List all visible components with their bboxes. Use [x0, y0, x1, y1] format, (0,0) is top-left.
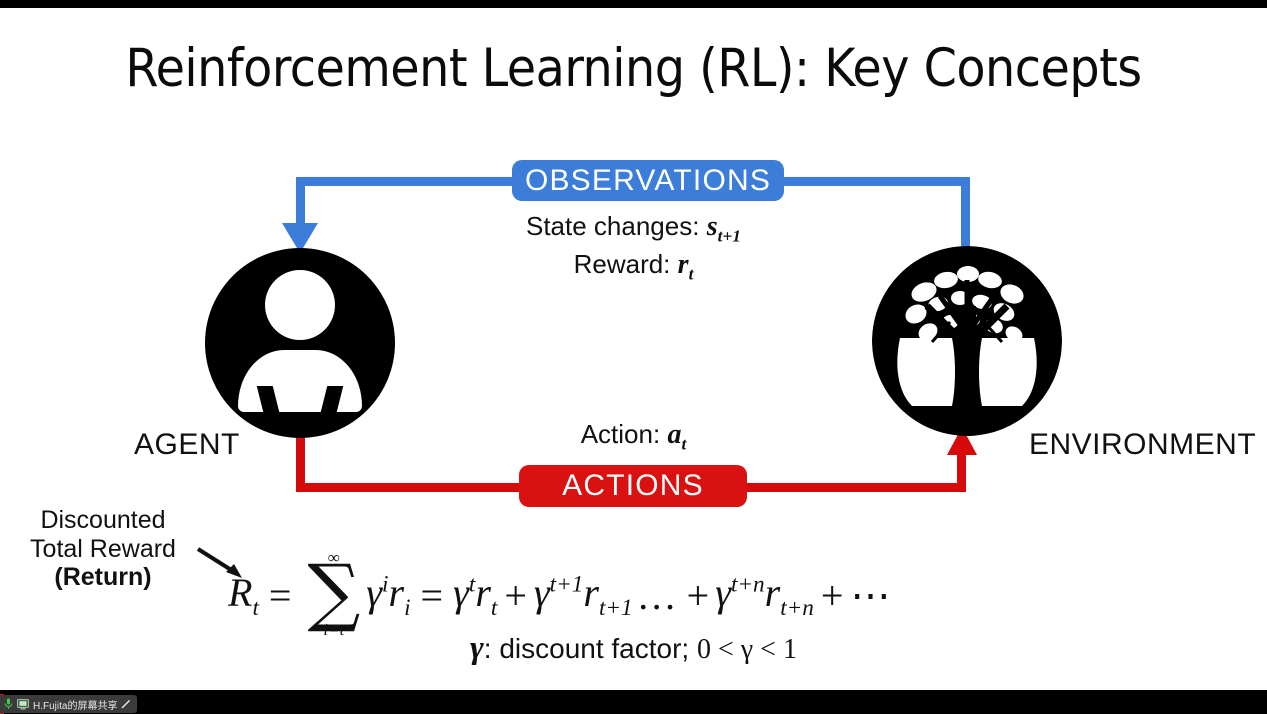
screen-share-indicator[interactable]: H.Fujita的屏幕共享: [0, 695, 137, 713]
formula-term-1: γiri: [366, 569, 410, 622]
reward-symbol: rt: [678, 249, 694, 280]
page-title: Reinforcement Learning (RL): Key Concept…: [0, 38, 1267, 99]
return-annotation-line2: Total Reward: [8, 535, 198, 564]
return-annotation-line3: (Return): [8, 563, 198, 592]
state-symbol: st+1: [707, 211, 741, 242]
return-formula: Rt = ∞ ∑ i=t γiri = γtrt + γt+1rt+1 … + …: [228, 551, 890, 640]
screen-root: Reinforcement Learning (RL): Key Concept…: [0, 0, 1267, 714]
return-annotation: Discounted Total Reward (Return): [8, 506, 198, 592]
reward-text: Reward: rt: [0, 249, 1267, 285]
formula-term-2: γtrt: [453, 569, 497, 622]
formula-ellipsis-1: …: [637, 572, 677, 619]
formula-equals-1: =: [269, 572, 292, 619]
action-text: Action: at: [0, 419, 1267, 455]
microphone-icon[interactable]: [4, 698, 13, 710]
reward-prefix: Reward:: [574, 249, 671, 279]
formula-lhs: Rt: [228, 569, 259, 622]
action-symbol: at: [667, 419, 686, 450]
screen-share-icon[interactable]: [17, 699, 29, 710]
formula-term-3: γt+1rt+1: [534, 569, 633, 622]
presentation-slide: Reinforcement Learning (RL): Key Concept…: [0, 8, 1267, 690]
action-prefix: Action:: [581, 419, 661, 449]
observations-pill: OBSERVATIONS: [512, 160, 784, 201]
screen-share-label: H.Fujita的屏幕共享: [33, 697, 117, 712]
state-changes-text: State changes: st+1: [0, 211, 1267, 247]
gamma-symbol: γ: [470, 630, 484, 666]
formula-term-4: γt+nrt+n: [715, 569, 814, 622]
person-icon-body: [238, 350, 362, 412]
state-changes-prefix: State changes:: [526, 211, 699, 241]
formula-equals-2: =: [421, 572, 444, 619]
summation-icon: ∞ ∑ i=t: [307, 549, 360, 638]
formula-plus-1: +: [504, 572, 527, 619]
return-annotation-line1: Discounted: [8, 506, 198, 535]
gamma-definition-line: γ: discount factor; 0 < γ < 1: [0, 630, 1267, 667]
gamma-range-text: 0 < γ < 1: [697, 634, 797, 665]
formula-ellipsis-2: ⋯: [850, 572, 890, 619]
formula-plus-3: +: [821, 572, 844, 619]
gamma-definition-text: : discount factor;: [484, 633, 689, 664]
pencil-icon[interactable]: [121, 699, 131, 709]
formula-plus-2: +: [687, 572, 710, 619]
action-line-right-vertical: [957, 454, 966, 492]
taskbar: H.Fujita的屏幕共享: [0, 694, 1267, 714]
sigma-glyph: ∑: [307, 562, 360, 623]
actions-pill: ACTIONS: [519, 465, 747, 507]
